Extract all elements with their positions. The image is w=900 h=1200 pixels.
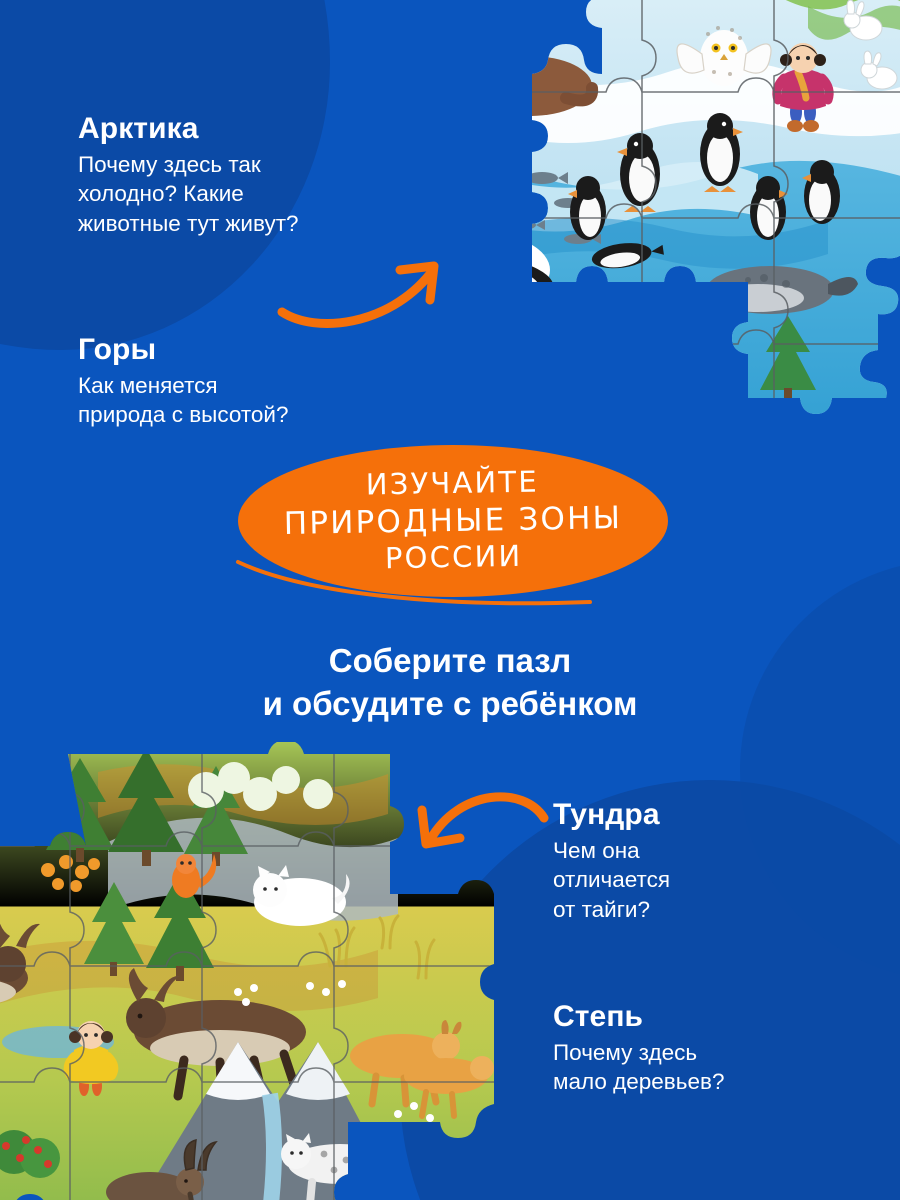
zone-question-mountains-line2: природа с высотой? bbox=[78, 402, 289, 427]
zone-question-arctic-line2: холодно? Какие bbox=[78, 181, 244, 206]
promo-badge-line2: природные зоны bbox=[284, 499, 623, 543]
zone-question-tundra-line2: отличается bbox=[553, 867, 670, 892]
zone-block-steppe: Степь Почему здесь мало деревьев? bbox=[553, 1000, 863, 1097]
zone-block-arctic: Арктика Почему здесь так холодно? Какие … bbox=[78, 112, 398, 238]
zone-question-tundra-line3: от тайги? bbox=[553, 897, 650, 922]
zone-question-arctic-line1: Почему здесь так bbox=[78, 152, 261, 177]
promo-badge-text: Изучайте природные зоны России bbox=[237, 441, 670, 600]
zone-question-steppe-line1: Почему здесь bbox=[553, 1040, 697, 1065]
zone-question-mountains-line1: Как меняется bbox=[78, 373, 218, 398]
curved-arrow-down-left-icon bbox=[412, 782, 562, 882]
zone-block-tundra: Тундра Чем она отличается от тайги? bbox=[553, 798, 853, 924]
zone-block-mountains: Горы Как меняется природа с высотой? bbox=[78, 333, 398, 430]
curved-arrow-up-right-icon bbox=[280, 248, 470, 338]
zone-title-tundra: Тундра bbox=[553, 798, 853, 832]
headline-line1: Соберите пазл bbox=[0, 640, 900, 683]
zone-title-steppe: Степь bbox=[553, 1000, 863, 1034]
zone-question-arctic-line3: животные тут живут? bbox=[78, 211, 299, 236]
promo-badge-line1: Изучайте bbox=[366, 464, 540, 503]
zone-question-tundra-line1: Чем она bbox=[553, 838, 640, 863]
arctic-puzzle-illustration bbox=[378, 0, 900, 466]
zone-question-steppe: Почему здесь мало деревьев? bbox=[553, 1038, 863, 1097]
headline-line2: и обсудите с ребёнком bbox=[0, 683, 900, 726]
zone-question-steppe-line2: мало деревьев? bbox=[553, 1069, 724, 1094]
page-title: Соберите пазл и обсудите с ребёнком bbox=[0, 640, 900, 725]
zone-title-mountains: Горы bbox=[78, 333, 398, 367]
zone-question-mountains: Как меняется природа с высотой? bbox=[78, 371, 398, 430]
zone-question-arctic: Почему здесь так холодно? Какие животные… bbox=[78, 150, 398, 238]
poster-canvas: Арктика Почему здесь так холодно? Какие … bbox=[0, 0, 900, 1200]
zone-question-tundra: Чем она отличается от тайги? bbox=[553, 836, 853, 924]
zone-title-arctic: Арктика bbox=[78, 112, 398, 146]
promo-badge-line3: России bbox=[385, 539, 523, 577]
promo-badge: Изучайте природные зоны России bbox=[238, 445, 668, 597]
